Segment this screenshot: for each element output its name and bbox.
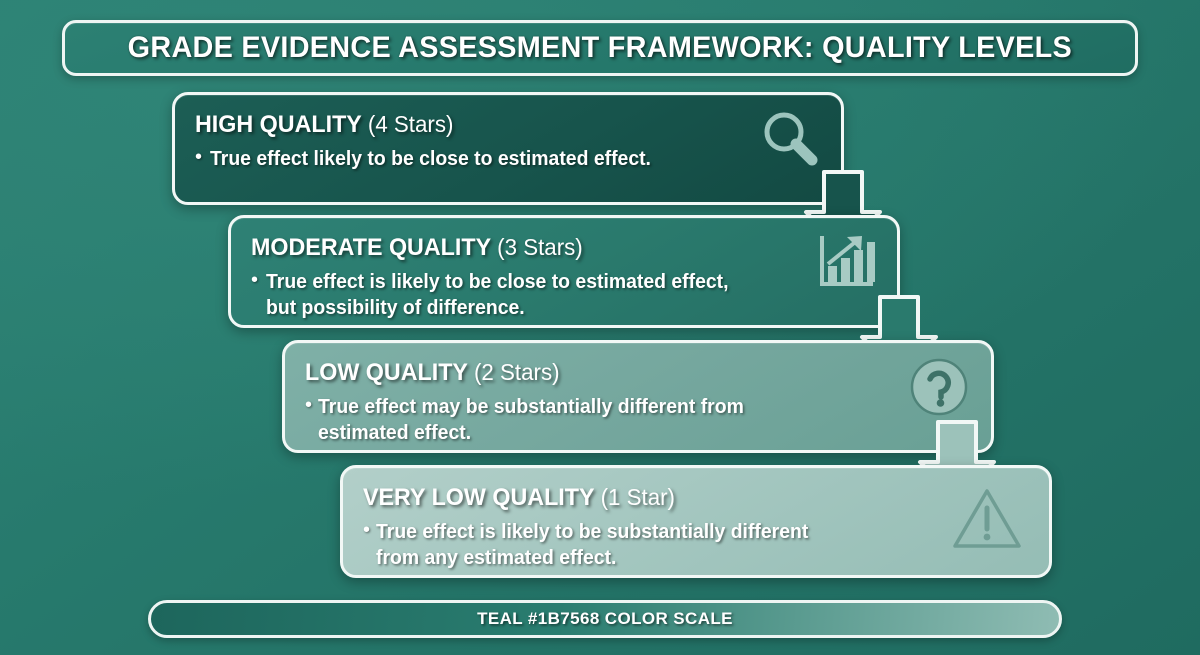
magnifier-icon	[757, 107, 823, 178]
quality-level-stars: (1 Star)	[601, 484, 675, 510]
quality-level-heading: VERY LOW QUALITY (1 Star)	[363, 484, 1009, 512]
quality-level-heading: MODERATE QUALITY (3 Stars)	[251, 234, 858, 262]
quality-level-card-moderate[interactable]: MODERATE QUALITY (3 Stars) • True effect…	[228, 215, 900, 328]
quality-level-stars: (4 Stars)	[368, 111, 454, 137]
quality-level-description: True effect likely to be close to estima…	[210, 146, 651, 172]
page-title: GRADE EVIDENCE ASSESSMENT FRAMEWORK: QUA…	[128, 31, 1072, 65]
quality-level-description: True effect is likely to be substantiall…	[376, 519, 808, 571]
quality-level-name: HIGH QUALITY	[195, 111, 361, 138]
warning-triangle-icon	[951, 486, 1023, 557]
quality-level-heading: HIGH QUALITY (4 Stars)	[195, 111, 802, 139]
bullet-point-icon: •	[305, 394, 312, 446]
quality-level-card-high[interactable]: HIGH QUALITY (4 Stars) • True effect lik…	[172, 92, 844, 205]
quality-level-bullet-row: • True effect is likely to be close to e…	[251, 269, 877, 321]
quality-level-heading: LOW QUALITY (2 Stars)	[305, 359, 951, 387]
quality-level-card-low[interactable]: LOW QUALITY (2 Stars) • True effect may …	[282, 340, 994, 453]
footer-label: TEAL #1B7568 COLOR SCALE	[477, 609, 733, 629]
bar-chart-growth-icon	[815, 230, 879, 299]
question-mark-circle-icon	[909, 357, 969, 422]
quality-level-card-very-low[interactable]: VERY LOW QUALITY (1 Star) • True effect …	[340, 465, 1052, 578]
quality-level-stars: (2 Stars)	[474, 359, 560, 385]
bullet-point-icon: •	[363, 519, 370, 571]
quality-level-name: LOW QUALITY	[305, 359, 468, 386]
quality-level-name: MODERATE QUALITY	[251, 234, 491, 261]
quality-level-bullet-row: • True effect is likely to be substantia…	[363, 519, 1029, 571]
quality-level-bullet-row: • True effect may be substantially diffe…	[305, 394, 971, 446]
quality-level-description: True effect may be substantially differe…	[318, 394, 744, 446]
footer-color-scale-bar: TEAL #1B7568 COLOR SCALE	[148, 600, 1062, 638]
quality-level-bullet-row: • True effect likely to be close to esti…	[195, 146, 821, 172]
bullet-point-icon: •	[195, 146, 202, 172]
quality-level-description: True effect is likely to be close to est…	[266, 269, 729, 321]
bullet-point-icon: •	[251, 269, 258, 321]
quality-level-stars: (3 Stars)	[497, 234, 583, 260]
quality-level-name: VERY LOW QUALITY	[363, 484, 594, 511]
page-title-banner: GRADE EVIDENCE ASSESSMENT FRAMEWORK: QUA…	[62, 20, 1138, 76]
